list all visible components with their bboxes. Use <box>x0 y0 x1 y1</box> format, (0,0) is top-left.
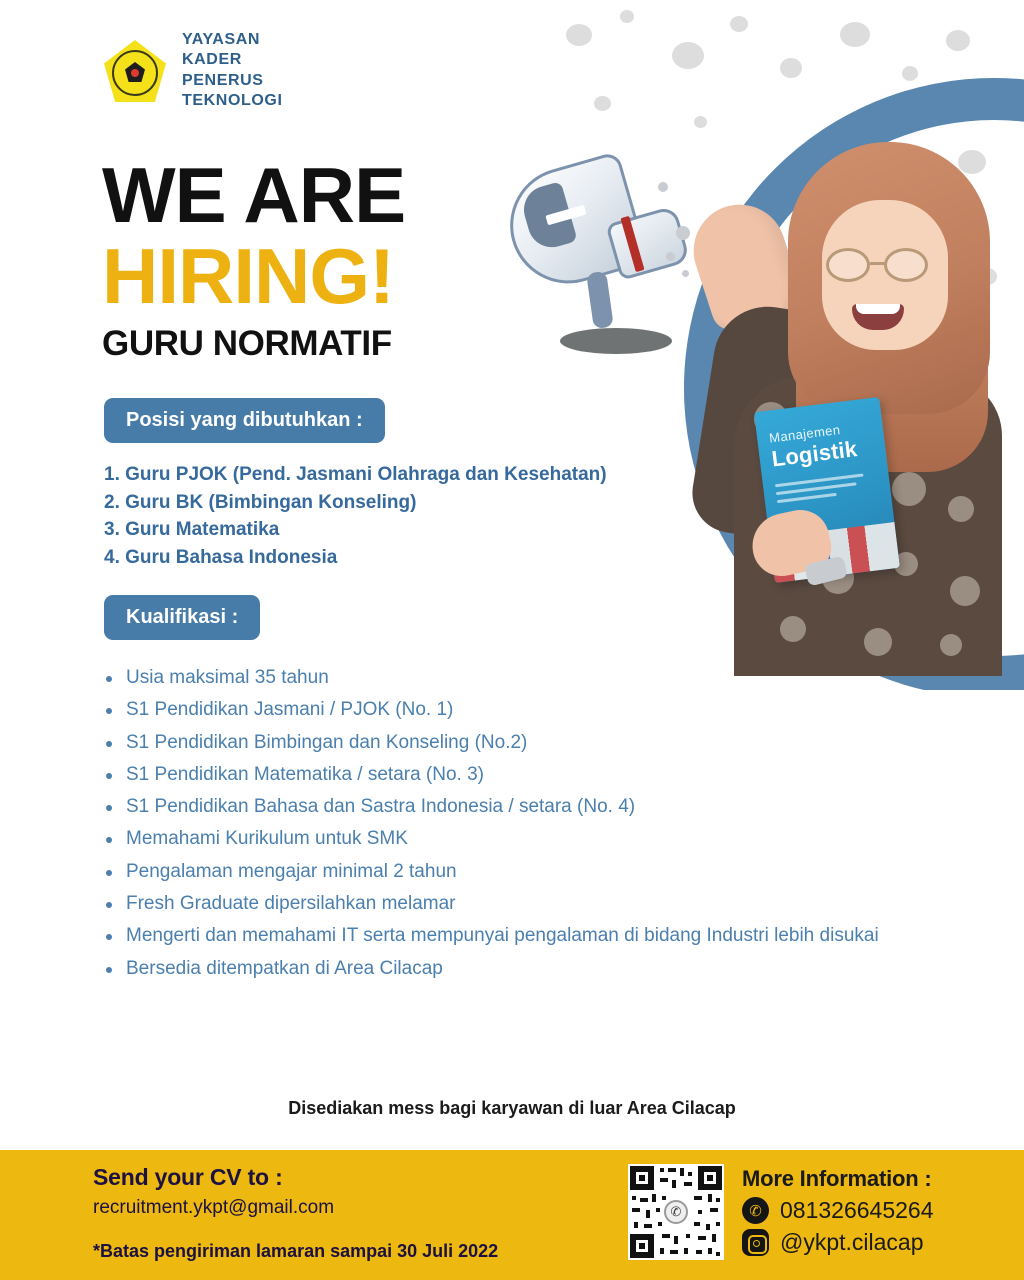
headline-block: WE ARE HIRING! GURU NORMATIF <box>102 158 405 364</box>
book-title-line1: Manajemen <box>768 418 873 446</box>
holding-hand <box>746 505 835 582</box>
headline-subtitle: GURU NORMATIF <box>102 324 405 364</box>
whatsapp-row[interactable]: ✆ 081326645264 <box>742 1197 934 1224</box>
list-item: 1. Guru PJOK (Pend. Jasmani Olahraga dan… <box>104 461 607 489</box>
org-line-3: PENERUS <box>182 71 283 91</box>
mess-note: Disediakan mess bagi karyawan di luar Ar… <box>0 1098 1024 1119</box>
deadline-note: *Batas pengiriman lamaran sampai 30 Juli… <box>93 1241 498 1262</box>
list-item: 4. Guru Bahasa Indonesia <box>104 544 607 572</box>
positions-section: Posisi yang dibutuhkan : 1. Guru PJOK (P… <box>104 398 607 571</box>
footer-left: Send your CV to : recruitment.ykpt@gmail… <box>93 1164 498 1262</box>
positions-badge: Posisi yang dibutuhkan : <box>104 398 385 443</box>
list-item: S1 Pendidikan Bimbingan dan Konseling (N… <box>104 727 944 759</box>
send-cv-title: Send your CV to : <box>93 1164 498 1191</box>
hijab <box>788 142 990 414</box>
more-information-title: More Information : <box>742 1166 934 1192</box>
hijab-drape <box>796 322 988 472</box>
arc-light-blue <box>644 38 1024 690</box>
face <box>822 200 948 350</box>
footer-bar: Send your CV to : recruitment.ykpt@gmail… <box>0 1150 1024 1280</box>
raised-hand <box>682 193 807 336</box>
qualifications-badge: Kualifikasi : <box>104 595 260 640</box>
list-item: S1 Pendidikan Jasmani / PJOK (No. 1) <box>104 694 944 726</box>
instagram-handle: @ykpt.cilacap <box>780 1229 924 1256</box>
qr-code-icon[interactable]: ✆ <box>628 1164 724 1260</box>
contact-email[interactable]: recruitment.ykpt@gmail.com <box>93 1197 498 1219</box>
list-item: Bersedia ditempatkan di Area Cilacap <box>104 953 944 985</box>
whatsapp-number: 081326645264 <box>780 1197 934 1224</box>
ykpt-pentagon-logo-icon <box>104 40 166 102</box>
megaphone-icon <box>508 152 688 342</box>
wristwatch <box>804 555 848 586</box>
qualifications-list: Usia maksimal 35 tahun S1 Pendidikan Jas… <box>104 662 944 985</box>
org-line-2: KADER <box>182 50 283 70</box>
organization-name: YAYASAN KADER PENERUS TEKNOLOGI <box>182 30 283 112</box>
footer-right: ✆ More Information : ✆ 081326645264 @ykp… <box>628 1164 934 1260</box>
glasses-icon <box>824 248 942 282</box>
list-item: S1 Pendidikan Matematika / setara (No. 3… <box>104 759 944 791</box>
whatsapp-logo-center-icon: ✆ <box>664 1200 688 1224</box>
smiling-mouth <box>852 304 904 330</box>
left-arm <box>687 299 830 543</box>
positions-list: 1. Guru PJOK (Pend. Jasmani Olahraga dan… <box>104 461 607 571</box>
list-item: Memahami Kurikulum untuk SMK <box>104 823 944 855</box>
book-manajemen-logistik: Manajemen Logistik <box>754 397 900 583</box>
org-line-4: TEKNOLOGI <box>182 91 283 111</box>
list-item: Usia maksimal 35 tahun <box>104 662 944 694</box>
list-item: 2. Guru BK (Bimbingan Konseling) <box>104 489 607 517</box>
person-photo: Manajemen Logistik <box>656 108 1016 668</box>
instagram-icon <box>742 1229 769 1256</box>
headline-line-2: HIRING! <box>102 237 405 317</box>
list-item: Pengalaman mengajar minimal 2 tahun <box>104 856 944 888</box>
brand-header: YAYASAN KADER PENERUS TEKNOLOGI <box>104 30 283 112</box>
headline-line-1: WE ARE <box>102 158 405 233</box>
org-line-1: YAYASAN <box>182 30 283 50</box>
list-item: S1 Pendidikan Bahasa dan Sastra Indonesi… <box>104 791 944 823</box>
qualifications-section: Kualifikasi : Usia maksimal 35 tahun S1 … <box>104 595 944 985</box>
book-title-line2: Logistik <box>770 434 876 472</box>
list-item: Mengerti dan memahami IT serta mempunyai… <box>104 920 944 952</box>
instagram-row[interactable]: @ykpt.cilacap <box>742 1229 934 1256</box>
list-item: 3. Guru Matematika <box>104 516 607 544</box>
contact-info: More Information : ✆ 081326645264 @ykpt.… <box>742 1164 934 1256</box>
whatsapp-icon: ✆ <box>742 1197 769 1224</box>
list-item: Fresh Graduate dipersilahkan melamar <box>104 888 944 920</box>
recruitment-poster: Manajemen Logistik YAYASAN KADER <box>0 0 1024 1280</box>
